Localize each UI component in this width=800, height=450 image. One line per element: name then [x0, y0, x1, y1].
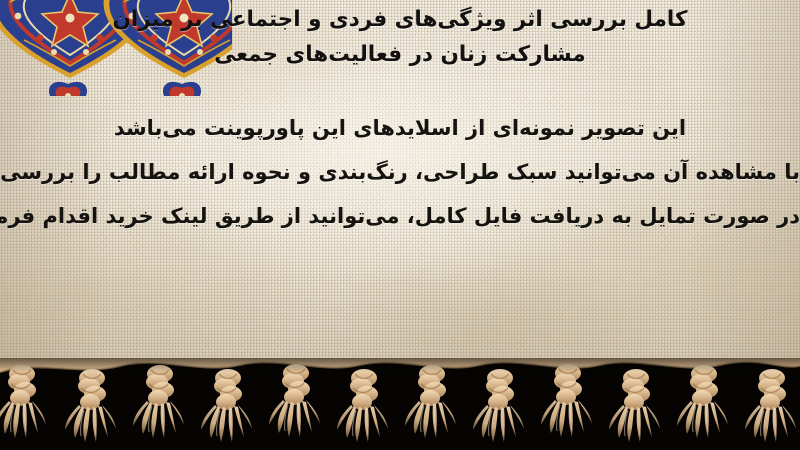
carpet-fringe-band [0, 358, 800, 450]
slide-title-line-1: کامل بررسی اثر ویژگی‌های فردی و اجتماعی … [0, 2, 800, 37]
slide-body-line-2: با مشاهده آن می‌توانید سبک طراحی، رنگ‌بن… [0, 150, 800, 194]
slide-title: کامل بررسی اثر ویژگی‌های فردی و اجتماعی … [0, 2, 800, 72]
slide-text-area: کامل بررسی اثر ویژگی‌های فردی و اجتماعی … [0, 0, 800, 372]
presentation-slide: کامل بررسی اثر ویژگی‌های فردی و اجتماعی … [0, 0, 800, 450]
slide-body-line-3: در صورت تمایل به دریافت فایل کامل، می‌تو… [0, 194, 800, 238]
fringe-tassels [0, 364, 796, 442]
slide-body-line-1: این تصویر نمونه‌ای از اسلایدهای این پاور… [0, 106, 800, 150]
slide-body: این تصویر نمونه‌ای از اسلایدهای این پاور… [0, 106, 800, 238]
slide-title-line-2: مشارکت زنان در فعالیت‌های جمعی [0, 37, 800, 72]
